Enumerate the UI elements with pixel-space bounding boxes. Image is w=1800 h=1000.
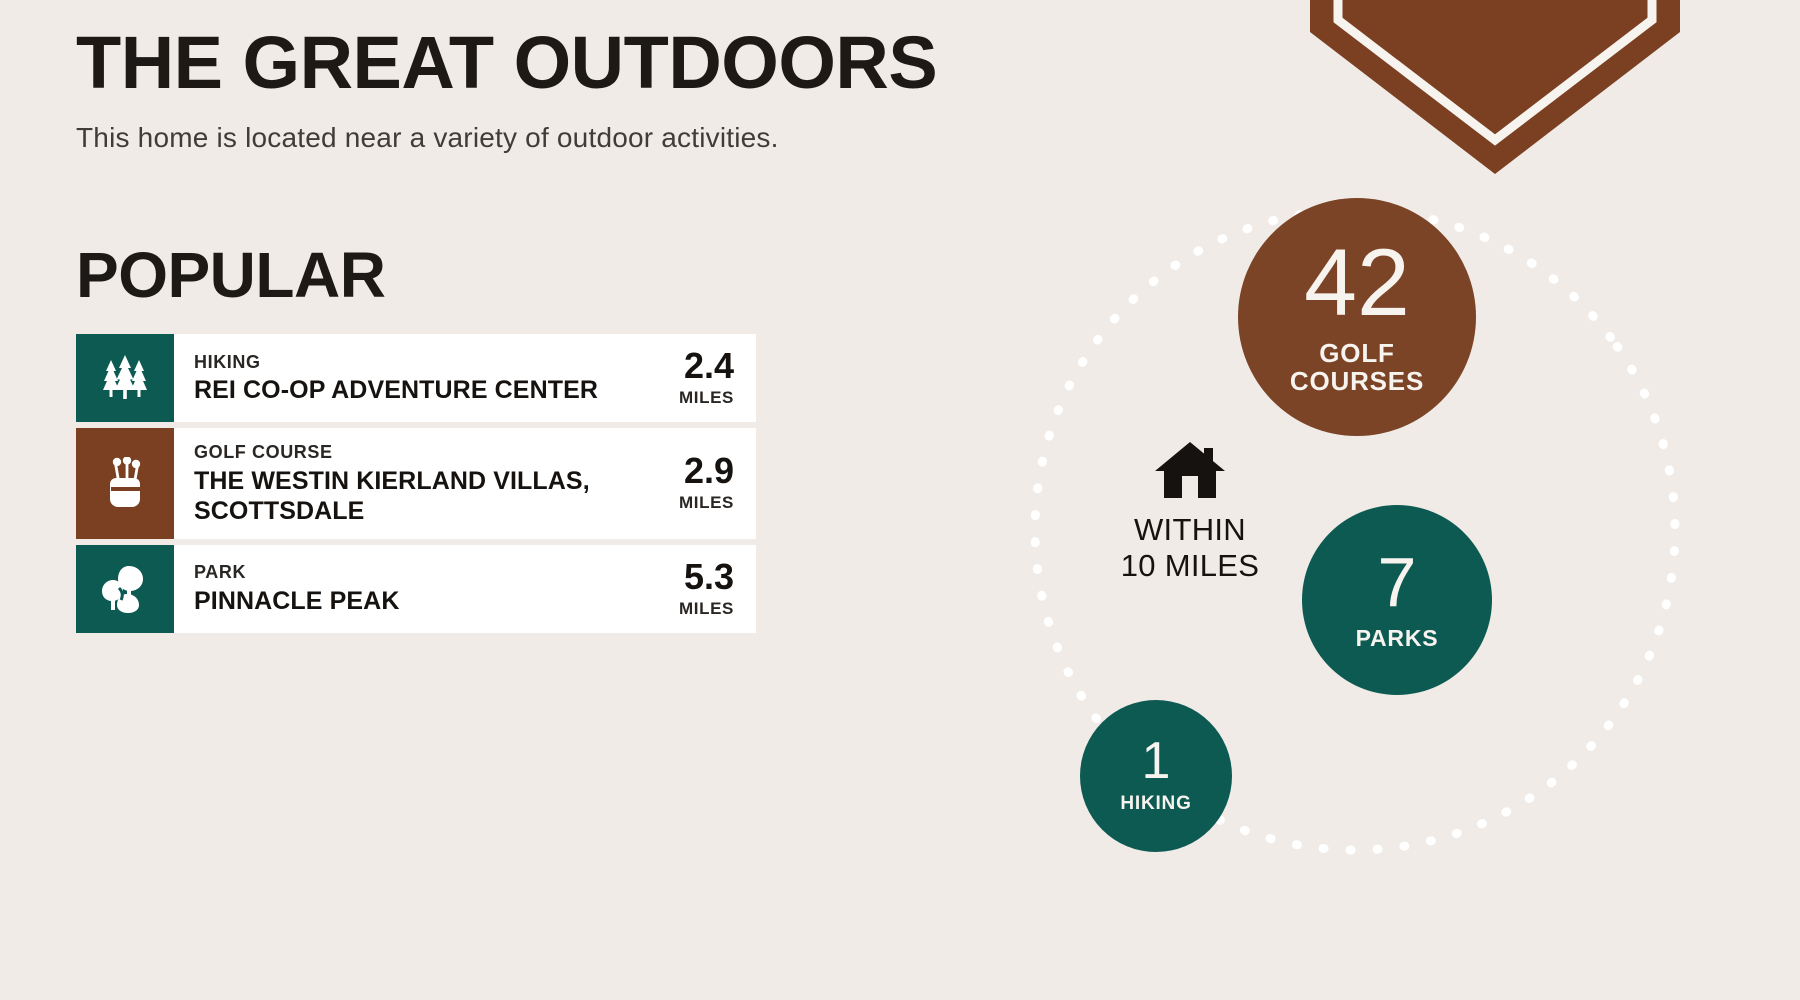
list-item-text: HIKING REI CO-OP ADVENTURE CENTER <box>174 334 614 422</box>
list-item[interactable]: HIKING REI CO-OP ADVENTURE CENTER 2.4 MI… <box>76 334 756 422</box>
stat-value: 7 <box>1378 549 1417 616</box>
list-item-distance: 2.4 MILES <box>614 334 756 422</box>
list-item-text: GOLF COURSE THE WESTIN KIERLAND VILLAS, … <box>174 428 614 539</box>
infographic-root: THE GREAT OUTDOORS This home is located … <box>0 0 1800 1000</box>
list-item[interactable]: GOLF COURSE THE WESTIN KIERLAND VILLAS, … <box>76 428 756 539</box>
list-item-category: GOLF COURSE <box>194 441 604 464</box>
popular-list: HIKING REI CO-OP ADVENTURE CENTER 2.4 MI… <box>76 334 756 633</box>
stat-bubble-hiking[interactable]: 1 HIKING <box>1080 700 1232 852</box>
home-location-marker: WITHIN 10 MILES <box>1040 440 1340 583</box>
page-title: THE GREAT OUTDOORS <box>76 0 956 100</box>
stat-label: GOLF COURSES <box>1290 329 1424 396</box>
stat-label-line2: COURSES <box>1290 367 1424 396</box>
marker-line1: WITHIN <box>1134 502 1246 548</box>
list-item-name: REI CO-OP ADVENTURE CENTER <box>194 373 604 405</box>
house-icon <box>1154 440 1226 502</box>
tree-badge-icon <box>1280 0 1710 182</box>
summary-graphic: 42 GOLF COURSES 7 PARKS 1 HIKING WITHIN … <box>980 0 1800 1000</box>
stat-label: PARKS <box>1356 616 1439 651</box>
golf-bag-icon <box>76 428 174 539</box>
pine-trees-icon <box>76 334 174 422</box>
stat-value: 42 <box>1304 238 1410 328</box>
distance-value: 5.3 <box>684 559 734 595</box>
left-column: THE GREAT OUTDOORS This home is located … <box>76 0 956 633</box>
distance-unit: MILES <box>679 489 734 513</box>
page-subtitle: This home is located near a variety of o… <box>76 100 956 154</box>
park-trees-icon <box>76 545 174 633</box>
stat-label: HIKING <box>1120 786 1191 815</box>
distance-unit: MILES <box>679 595 734 619</box>
list-item-name: PINNACLE PEAK <box>194 584 604 616</box>
distance-unit: MILES <box>679 384 734 408</box>
list-item-category: HIKING <box>194 351 604 374</box>
stat-bubble-golf-courses[interactable]: 42 GOLF COURSES <box>1238 198 1476 436</box>
list-item-distance: 5.3 MILES <box>614 545 756 633</box>
stat-value: 1 <box>1142 737 1171 786</box>
list-item-category: PARK <box>194 561 604 584</box>
list-item-distance: 2.9 MILES <box>614 428 756 539</box>
stat-label-line1: GOLF <box>1290 339 1424 368</box>
list-item-name: THE WESTIN KIERLAND VILLAS, SCOTTSDALE <box>194 464 604 526</box>
distance-value: 2.4 <box>684 348 734 384</box>
marker-line2: 10 MILES <box>1121 548 1260 584</box>
distance-value: 2.9 <box>684 453 734 489</box>
list-item-text: PARK PINNACLE PEAK <box>174 545 614 633</box>
list-item[interactable]: PARK PINNACLE PEAK 5.3 MILES <box>76 545 756 633</box>
section-title-popular: POPULAR <box>76 154 956 334</box>
